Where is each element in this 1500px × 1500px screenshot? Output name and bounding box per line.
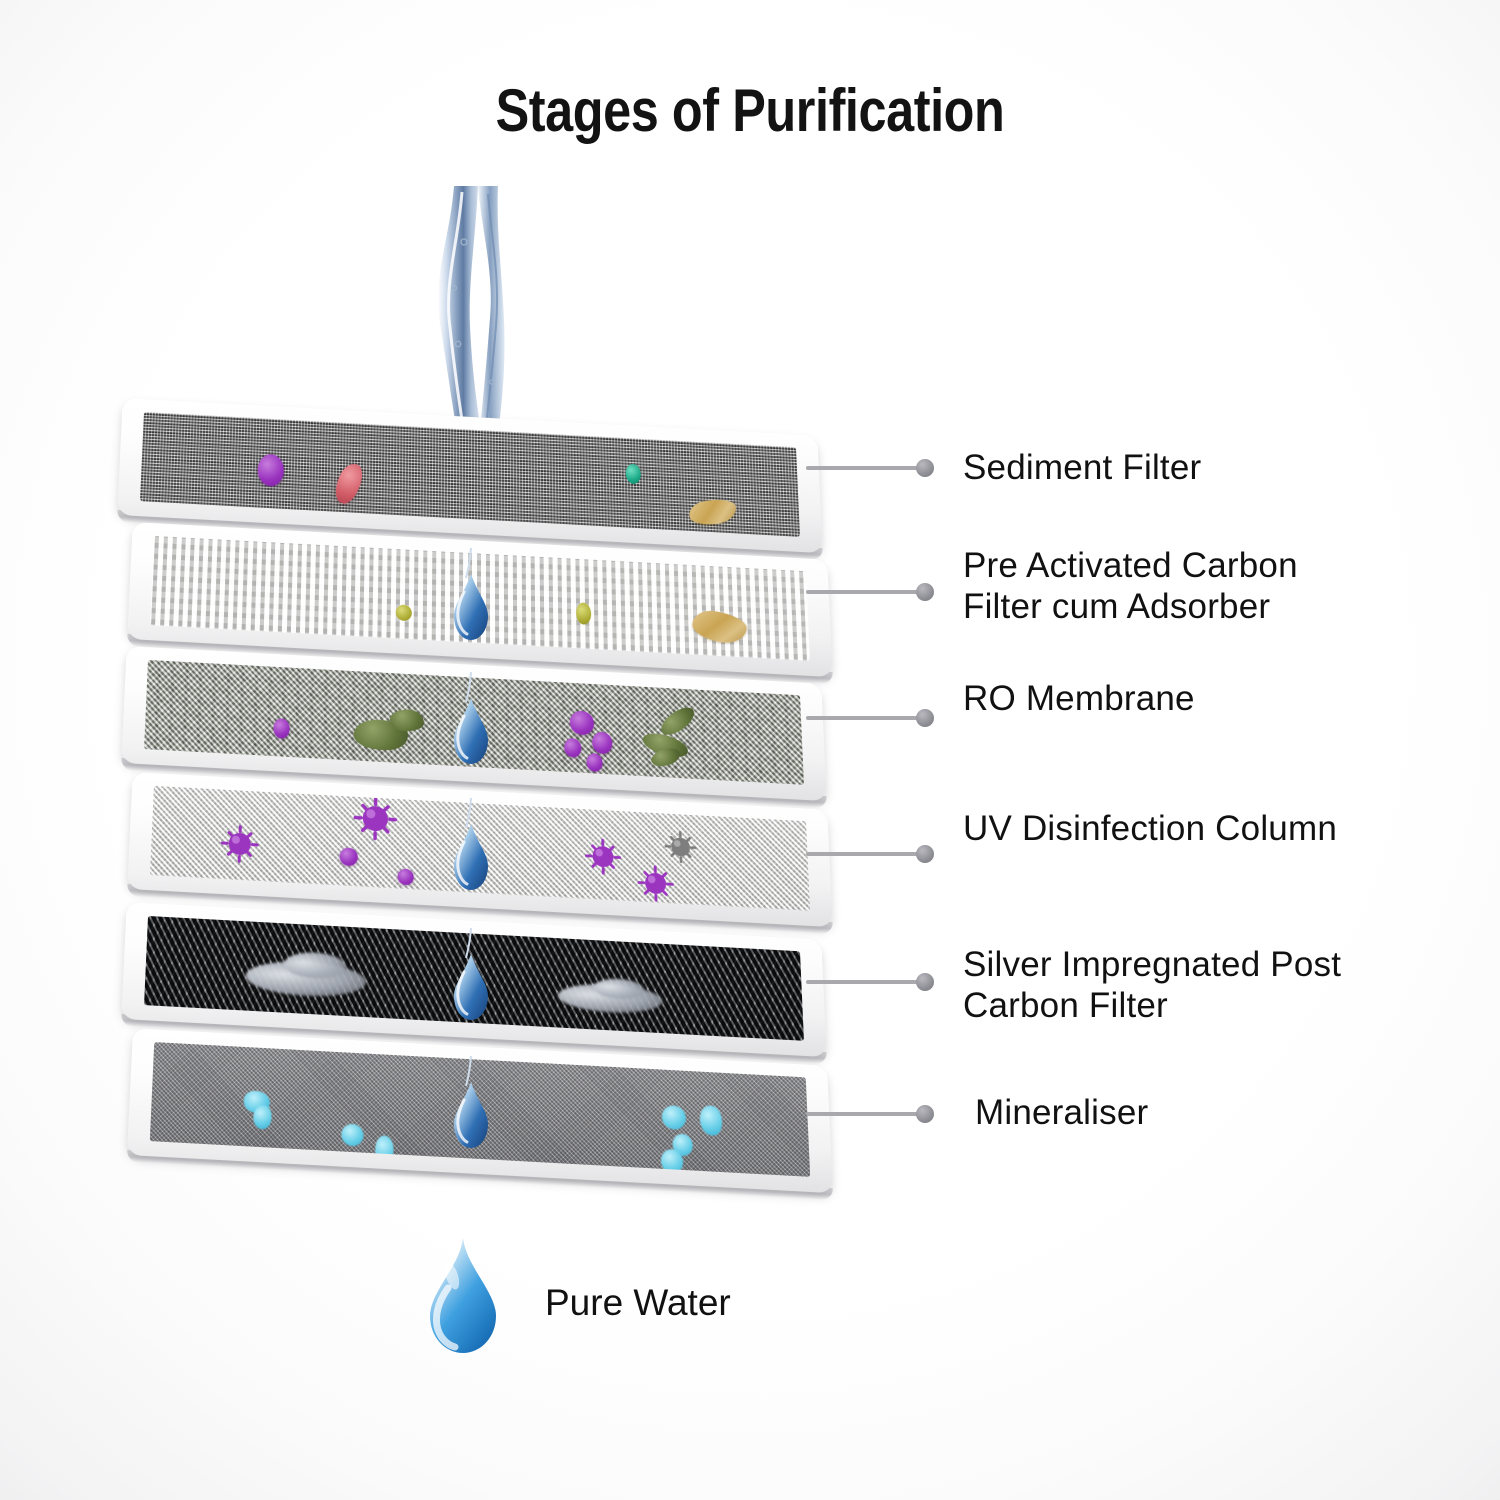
contaminant-purple-cluster xyxy=(592,731,612,754)
label-uv-disinfection-column: UV Disinfection Column xyxy=(963,808,1337,849)
label-line-1: Pre Activated Carbon xyxy=(963,545,1298,586)
label-ro-membrane: RO Membrane xyxy=(963,678,1195,719)
label-pure-water: Pure Water xyxy=(545,1282,731,1324)
contaminant-olive-particle xyxy=(396,604,412,621)
infographic-canvas: Stages of Purification xyxy=(0,0,1500,1500)
water-droplet-layer-5 xyxy=(450,928,492,1024)
contaminant-purple-virus xyxy=(584,837,623,877)
connector-line-ro-membrane xyxy=(806,716,918,720)
connector-dot-ro-membrane xyxy=(916,709,934,727)
contaminant-purple-dot xyxy=(340,847,358,866)
connector-line-pre-activated-carbon xyxy=(806,590,918,594)
label-line-1: Silver Impregnated Post xyxy=(963,944,1341,985)
water-droplet-layer-6 xyxy=(450,1054,492,1154)
page-title: Stages of Purification xyxy=(120,76,1380,145)
label-line-2: Filter cum Adsorber xyxy=(963,586,1298,627)
connector-dot-uv-disinfection-column xyxy=(916,845,934,863)
connector-dot-pre-activated-carbon xyxy=(916,583,934,601)
pure-water-drop-icon xyxy=(420,1236,506,1356)
water-droplet-layer-2 xyxy=(450,548,492,644)
connector-dot-silver-impregnated-post-carbon xyxy=(916,973,934,991)
label-line-2: Carbon Filter xyxy=(963,985,1341,1026)
label-silver-impregnated-post-carbon: Silver Impregnated Post Carbon Filter xyxy=(963,944,1341,1027)
contaminant-purple-virus xyxy=(219,823,260,865)
water-droplet-layer-4 xyxy=(450,798,492,894)
connector-line-uv-disinfection-column xyxy=(806,852,918,856)
connector-dot-sediment-filter xyxy=(916,459,934,477)
label-pre-activated-carbon: Pre Activated Carbon Filter cum Adsorber xyxy=(963,545,1298,628)
contaminant-gray-virus xyxy=(663,829,698,865)
water-droplet-layer-3 xyxy=(450,672,492,768)
contaminant-teal-microbe xyxy=(626,464,641,485)
connector-line-silver-impregnated-post-carbon xyxy=(806,980,918,984)
contaminant-purple-dot xyxy=(398,868,414,885)
contaminant-purple-cluster xyxy=(586,753,602,772)
contaminant-purple-virus xyxy=(636,863,675,903)
connector-dot-mineraliser xyxy=(916,1105,934,1123)
label-sediment-filter: Sediment Filter xyxy=(963,447,1201,488)
connector-line-mineraliser xyxy=(806,1112,918,1116)
label-mineraliser: Mineraliser xyxy=(975,1092,1148,1133)
contaminant-olive-particle xyxy=(576,602,591,625)
contaminant-purple-cluster xyxy=(564,738,581,758)
contaminant-purple-virus xyxy=(352,795,398,843)
connector-line-sediment-filter xyxy=(806,466,918,470)
